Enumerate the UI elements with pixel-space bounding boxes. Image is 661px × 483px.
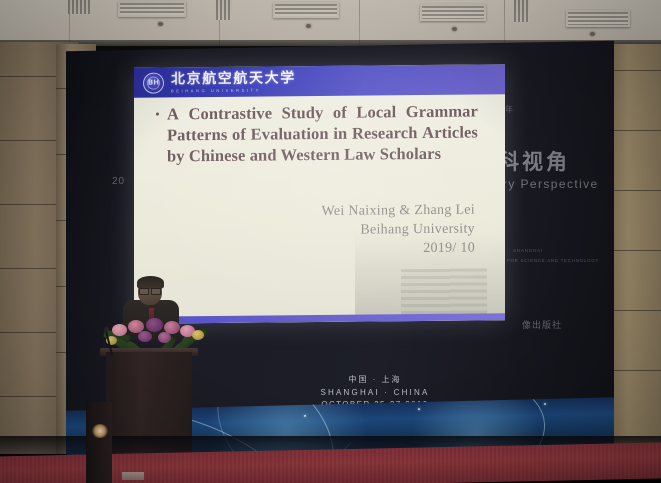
conference-hall-photo: 建设四十周年 科视角 ry Perspective SHANGHAI FOR S… <box>0 0 661 483</box>
slide-header-bar: BH 北京航空航天大学 BEIHANG UNIVERSITY <box>134 64 505 98</box>
slide-title-line-1: A Contrastive Study of Local Grammar <box>167 100 478 124</box>
backdrop-publisher: 像出版社 <box>522 318 562 331</box>
word: Contrastive <box>189 102 273 124</box>
slide-title-line-3: by Chinese and Western Law Scholars <box>167 143 478 167</box>
word: of <box>232 124 246 145</box>
backdrop-theme-en: ry Perspective <box>503 177 599 191</box>
backdrop-theme-cn: 科视角 <box>498 146 570 176</box>
bullet-dot-icon <box>156 113 159 116</box>
floor-paper-object <box>122 472 144 480</box>
word: Grammar <box>406 100 478 122</box>
word: Research <box>352 122 418 144</box>
air-vent-icon <box>273 2 339 18</box>
backdrop-location-en: SHANGHAI · CHINA <box>300 388 450 397</box>
word: Patterns <box>167 124 227 146</box>
word: Evaluation <box>251 123 329 145</box>
word: Local <box>356 101 396 122</box>
word: of <box>333 102 347 123</box>
beihang-university-seal-icon: BH <box>143 72 164 93</box>
air-vent-icon <box>118 1 186 17</box>
slide-author-block: Wei Naixing & Zhang Lei Beihang Universi… <box>321 202 475 260</box>
backdrop-location-cn: 中国 · 上海 <box>300 374 450 385</box>
glasses-icon <box>139 288 161 293</box>
air-vent-icon <box>216 0 232 20</box>
air-vent-icon <box>68 0 90 14</box>
slide-title-block: A Contrastive Study of Local Grammar Pat… <box>156 100 486 166</box>
air-vent-icon <box>420 4 486 21</box>
backdrop-left-number: 20 <box>112 176 125 187</box>
microphone-head-icon <box>104 327 109 332</box>
word: Articles <box>422 122 478 144</box>
slide-university-name-en: BEIHANG UNIVERSITY <box>171 88 296 93</box>
word: A <box>167 103 179 124</box>
slide-authors: Wei Naixing & Zhang Lei <box>321 202 475 222</box>
recessed-downlight-icon <box>158 22 163 26</box>
slide-university-name-cn: 北京航空航天大学 <box>171 71 296 86</box>
projected-slide: BH 北京航空航天大学 BEIHANG UNIVERSITY A Contras… <box>134 64 505 324</box>
recessed-downlight-icon <box>452 27 457 31</box>
backdrop-small-text-2: FOR SCIENCE AND TECHNOLOGY <box>507 258 599 263</box>
slide-title: A Contrastive Study of Local Grammar Pat… <box>167 100 478 166</box>
slide-affiliation: Beihang University <box>321 220 475 240</box>
word: Study <box>282 102 324 124</box>
seal-monogram: BH <box>148 79 159 87</box>
foreground-dark-column <box>86 402 112 483</box>
word: in <box>333 123 347 144</box>
recessed-downlight-icon <box>306 24 311 28</box>
stage-light-glow <box>92 424 108 438</box>
recessed-downlight-icon <box>590 32 595 36</box>
air-vent-icon <box>566 10 630 27</box>
air-vent-icon <box>514 0 530 22</box>
slide-date: 2019/ 10 <box>321 239 475 259</box>
backdrop-small-text-1: SHANGHAI <box>513 248 543 253</box>
slide-title-line-2: Patterns of Evaluation in Research Artic… <box>167 122 478 146</box>
